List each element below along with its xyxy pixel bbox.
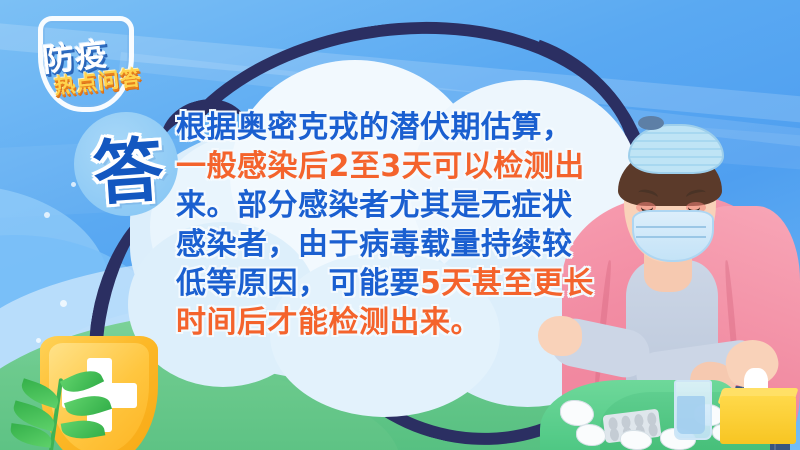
ice-pack-cap <box>638 116 664 130</box>
answer-segment: 5天甚至更长 <box>420 266 594 301</box>
answer-badge-character: 答 <box>75 113 182 220</box>
mask-pleat <box>636 236 706 238</box>
answer-line: 时间后才能检测出来。 <box>176 303 580 342</box>
tissue-box-icon <box>720 396 796 444</box>
leaf-icon <box>6 368 136 450</box>
crumpled-tissue <box>560 400 594 426</box>
water-fill <box>677 396 705 434</box>
leaf <box>64 390 112 423</box>
leaf <box>61 416 106 442</box>
answer-line: 感染者，由于病毒载量持续较 <box>176 225 580 264</box>
answer-line: 低等原因，可能要5天甚至更长 <box>176 264 580 303</box>
poster-canvas: 答 防疫 热点问答 <box>0 0 800 450</box>
sparkle-dot <box>44 212 50 218</box>
crumpled-tissue <box>620 430 652 450</box>
leaf <box>60 364 104 399</box>
answer-line: 根据奥密克戎的潜伏期估算， <box>176 108 580 147</box>
mask-pleat <box>636 226 706 228</box>
sparkle-dot <box>71 182 76 187</box>
answer-line: 一般感染后2至3天可以检测出 <box>176 147 580 186</box>
answer-segment: 根据奥密克戎的潜伏期估算， <box>176 110 573 145</box>
answer-line: 来。部分感染者尤其是无症状 <box>176 186 580 225</box>
answer-segment: 来。部分感染者尤其是无症状 <box>176 188 573 223</box>
sparkle-dot <box>60 300 67 307</box>
answer-text-block: 根据奥密克戎的潜伏期估算， 一般感染后2至3天可以检测出 来。部分感染者尤其是无… <box>176 108 580 342</box>
answer-segment: 感染者，由于病毒载量持续较 <box>176 227 573 262</box>
crumpled-tissue <box>576 424 606 446</box>
answer-segment: 时间后才能检测出来。 <box>176 305 481 340</box>
ice-pack-icon <box>628 124 724 174</box>
program-logo: 防疫 热点问答 <box>14 14 154 106</box>
answer-segment: 一般感染后2至3天可以检测出 <box>176 149 585 184</box>
answer-segment: 低等原因，可能要 <box>176 266 420 301</box>
